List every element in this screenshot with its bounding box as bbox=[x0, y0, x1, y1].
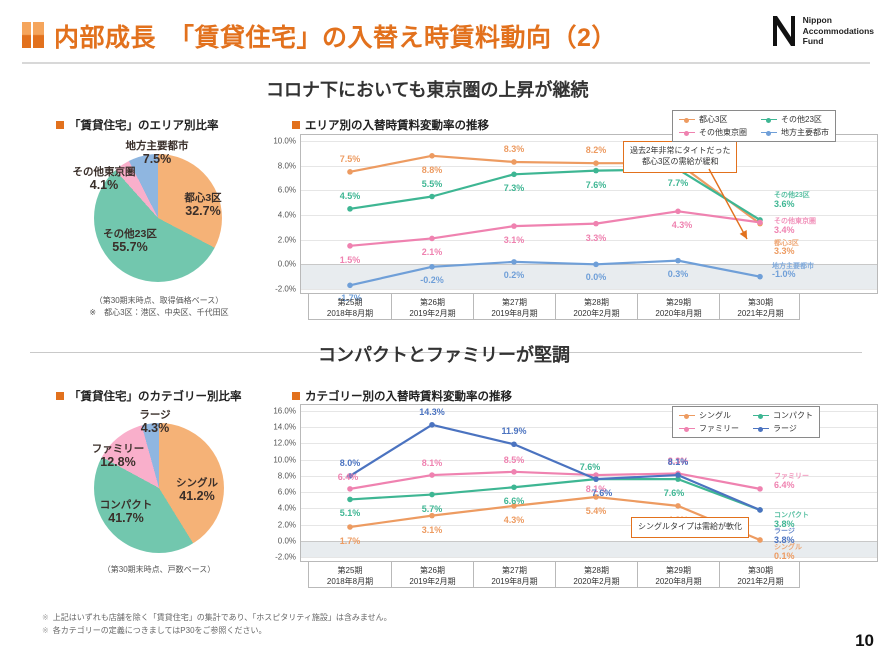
footnote-1: ※各カテゴリーの定義につきましてはP30をご参照ください。 bbox=[42, 625, 742, 638]
legend-label: ファミリー bbox=[699, 423, 739, 434]
logo-line-2: Accommodations bbox=[803, 26, 874, 36]
x-axis-date: 2019年8月期 bbox=[474, 309, 555, 320]
data-point bbox=[347, 486, 353, 492]
data-point bbox=[675, 472, 681, 478]
data-point bbox=[511, 484, 517, 490]
category-pie-label-3: ラージ4.3% bbox=[120, 409, 190, 435]
data-label: 0.0% bbox=[586, 272, 607, 282]
data-point bbox=[429, 236, 435, 242]
end-label-value: 3.3% bbox=[774, 246, 795, 256]
x-axis-period: 第25期 bbox=[309, 566, 391, 577]
data-point bbox=[347, 497, 353, 503]
x-axis-band-1: 第26期2019年2月期 bbox=[391, 562, 473, 588]
x-axis-band-3: 第28期2020年2月期 bbox=[555, 294, 637, 320]
category-chart-heading: カテゴリー別の入替時賃料変動率の推移 bbox=[292, 388, 512, 404]
header-accent-mark bbox=[22, 22, 44, 48]
slide-header: 内部成長 「賃貸住宅」の入替え時賃料動向（2） Nippon Accommoda… bbox=[0, 0, 892, 62]
legend-line-icon bbox=[679, 415, 695, 416]
x-axis-band-5: 第30期2021年2月期 bbox=[719, 562, 801, 588]
data-label: 8.3% bbox=[504, 144, 525, 154]
area-pie-chart: 都心3区32.7% その他23区55.7% その他東京圏4.1% 地方主要都市7… bbox=[82, 148, 234, 290]
x-axis-period: 第30期 bbox=[720, 298, 801, 309]
end-label-name: ファミリー bbox=[774, 473, 809, 481]
y-axis-tick: 8.0% bbox=[278, 471, 296, 480]
data-label: 7.6% bbox=[586, 180, 607, 190]
data-point bbox=[429, 422, 435, 428]
legend-line-icon bbox=[753, 428, 769, 429]
series-end-label: 都心3区3.3% bbox=[774, 240, 799, 258]
series-end-label: その他23区3.6% bbox=[774, 192, 810, 210]
footnote-0: ※上記はいずれも店舗を除く「賃貸住宅」の集計であり、「ホスピタリティ施設」は含み… bbox=[42, 612, 742, 625]
legend-label: 都心3区 bbox=[699, 114, 727, 125]
legend-item-1[interactable]: その他23区 bbox=[761, 114, 829, 125]
data-label: 8.1% bbox=[668, 457, 689, 467]
data-label: 7.6% bbox=[580, 462, 601, 472]
bullet-square-icon bbox=[56, 392, 64, 400]
area-pie-heading: 「賃貸住宅」のエリア別比率 bbox=[56, 117, 219, 133]
legend-label: その他23区 bbox=[781, 114, 822, 125]
x-axis-period: 第27期 bbox=[474, 298, 555, 309]
y-axis-tick: 8.0% bbox=[278, 161, 296, 170]
y-axis-tick: 0.0% bbox=[278, 536, 296, 545]
y-axis-tick: 12.0% bbox=[273, 439, 296, 448]
legend-line-icon bbox=[761, 119, 777, 120]
data-label: 5.5% bbox=[422, 179, 443, 189]
data-point bbox=[675, 258, 681, 264]
logo-text: Nippon Accommodations Fund bbox=[803, 15, 874, 46]
data-label: 8.2% bbox=[586, 145, 607, 155]
y-axis-tick: 4.0% bbox=[278, 211, 296, 220]
data-label: 8.0% bbox=[340, 458, 361, 468]
end-label-value: -1.0% bbox=[772, 269, 796, 279]
y-axis-tick: -2.0% bbox=[275, 285, 296, 294]
data-label: 7.3% bbox=[504, 183, 525, 193]
y-axis-tick: 6.0% bbox=[278, 488, 296, 497]
data-point bbox=[347, 206, 353, 212]
legend-item-0[interactable]: 都心3区 bbox=[679, 114, 747, 125]
data-label: 1.7% bbox=[340, 536, 361, 546]
y-axis-tick: 0.0% bbox=[278, 260, 296, 269]
legend-item-3[interactable]: ラージ bbox=[753, 423, 813, 434]
data-point bbox=[593, 160, 599, 166]
legend-item-1[interactable]: コンパクト bbox=[753, 410, 813, 421]
end-label-value: 3.4% bbox=[774, 225, 795, 235]
x-axis-date: 2021年2月期 bbox=[720, 577, 801, 588]
callout-line: 都心3区の需給が緩和 bbox=[630, 157, 730, 168]
logo-line-3: Fund bbox=[803, 36, 874, 46]
legend-line-icon bbox=[679, 119, 695, 120]
end-label-name: コンパクト bbox=[774, 512, 809, 520]
data-point bbox=[511, 469, 517, 475]
footnotes: ※上記はいずれも店舗を除く「賃貸住宅」の集計であり、「ホスピタリティ施設」は含み… bbox=[42, 612, 742, 638]
data-point bbox=[347, 169, 353, 175]
data-label: 5.7% bbox=[422, 504, 443, 514]
data-label: 7.6% bbox=[664, 488, 685, 498]
end-label-name: 地方主要都市 bbox=[772, 263, 814, 271]
area-legend: 都心3区その他23区その他東京圏地方主要都市 bbox=[672, 110, 836, 142]
category-legend: シングルコンパクトファミリーラージ bbox=[672, 406, 820, 438]
data-label: 8.5% bbox=[504, 455, 525, 465]
legend-item-0[interactable]: シングル bbox=[679, 410, 739, 421]
page-number: 10 bbox=[855, 631, 874, 651]
data-label: 11.9% bbox=[501, 426, 526, 436]
category-pie-label-1: コンパクト41.7% bbox=[86, 499, 166, 525]
x-axis-band-4: 第29期2020年8月期 bbox=[637, 562, 719, 588]
data-point bbox=[675, 503, 681, 509]
area-chart-heading: エリア別の入替時賃料変動率の推移 bbox=[292, 117, 489, 133]
data-point bbox=[429, 492, 435, 498]
data-point bbox=[593, 221, 599, 227]
data-label: -0.2% bbox=[420, 275, 444, 285]
x-axis-period: 第29期 bbox=[638, 298, 719, 309]
x-axis-date: 2020年8月期 bbox=[638, 309, 719, 320]
series-line-3 bbox=[350, 261, 760, 286]
legend-line-icon bbox=[753, 415, 769, 416]
end-label-value: 0.1% bbox=[774, 551, 795, 561]
area-pie-note-1: ※ 都心3区：港区、中央区、千代田区 bbox=[44, 307, 274, 318]
end-label-name: 都心3区 bbox=[774, 240, 799, 248]
data-point bbox=[757, 537, 763, 543]
area-plot-area: 10.0%8.0%6.0%4.0%2.0%0.0%-2.0%7.5%8.8%8.… bbox=[301, 135, 877, 293]
series-end-label: シングル0.1% bbox=[774, 544, 802, 562]
x-axis-date: 2018年8月期 bbox=[309, 577, 391, 588]
y-axis-tick: 6.0% bbox=[278, 186, 296, 195]
data-point bbox=[593, 168, 599, 174]
data-label: 14.3% bbox=[419, 407, 445, 417]
data-label: 0.2% bbox=[504, 270, 525, 280]
data-label: 8.1% bbox=[422, 458, 443, 468]
end-label-name: その他東京圏 bbox=[774, 218, 816, 226]
data-label: 3.3% bbox=[586, 233, 607, 243]
data-point bbox=[757, 220, 763, 226]
bullet-square-icon bbox=[292, 392, 300, 400]
end-label-name: ラージ bbox=[774, 528, 795, 536]
x-axis-date: 2018年8月期 bbox=[309, 309, 391, 320]
section-2-title: コンパクトとファミリーが堅調 bbox=[318, 341, 570, 367]
y-axis-tick: -2.0% bbox=[275, 553, 296, 562]
data-label: 6.4% bbox=[338, 472, 359, 482]
slide: 内部成長 「賃貸住宅」の入替え時賃料動向（2） Nippon Accommoda… bbox=[0, 0, 892, 659]
series-end-label: ラージ3.8% bbox=[774, 528, 795, 546]
data-label: 6.6% bbox=[504, 496, 525, 506]
legend-item-2[interactable]: ファミリー bbox=[679, 423, 739, 434]
x-axis-date: 2019年2月期 bbox=[392, 309, 473, 320]
data-label: 4.5% bbox=[340, 191, 361, 201]
data-label: 4.3% bbox=[672, 220, 693, 230]
y-axis-tick: 2.0% bbox=[278, 235, 296, 244]
category-pie-heading: 「賃貸住宅」のカテゴリー別比率 bbox=[56, 388, 242, 404]
y-axis-tick: 10.0% bbox=[273, 455, 296, 464]
data-point bbox=[511, 159, 517, 165]
area-line-chart: 10.0%8.0%6.0%4.0%2.0%0.0%-2.0%7.5%8.8%8.… bbox=[300, 134, 878, 294]
x-axis-period: 第30期 bbox=[720, 566, 801, 577]
data-point bbox=[429, 513, 435, 519]
end-label-value: 6.4% bbox=[774, 480, 795, 490]
data-point bbox=[347, 243, 353, 249]
y-axis-tick: 10.0% bbox=[273, 137, 296, 146]
series-line-2 bbox=[350, 211, 760, 246]
chart-callout: 過去2年非常にタイトだった都心3区の需給が緩和 bbox=[623, 141, 737, 173]
data-point bbox=[347, 524, 353, 530]
x-axis-period: 第29期 bbox=[638, 566, 719, 577]
area-pie-note-0: （第30期末時点、取得価格ベース） bbox=[44, 295, 274, 306]
callout-line: シングルタイプは需給が軟化 bbox=[638, 522, 742, 533]
x-axis-date: 2019年8月期 bbox=[474, 577, 555, 588]
header-divider bbox=[22, 62, 870, 64]
area-pie-label-1: その他23区55.7% bbox=[90, 228, 170, 254]
x-axis-period: 第27期 bbox=[474, 566, 555, 577]
series-end-label: 地方主要都市-1.0% bbox=[772, 263, 814, 281]
bullet-square-icon bbox=[56, 121, 64, 129]
x-axis-band-1: 第26期2019年2月期 bbox=[391, 294, 473, 320]
series-end-label: ファミリー6.4% bbox=[774, 473, 809, 491]
data-point bbox=[511, 441, 517, 447]
legend-item-3[interactable]: 地方主要都市 bbox=[761, 127, 829, 138]
legend-label: 地方主要都市 bbox=[781, 127, 829, 138]
callout-line: 過去2年非常にタイトだった bbox=[630, 146, 730, 157]
legend-line-icon bbox=[679, 428, 695, 429]
x-axis-date: 2020年2月期 bbox=[556, 309, 637, 320]
legend-label: その他東京圏 bbox=[699, 127, 747, 138]
data-label: 7.6% bbox=[592, 488, 613, 498]
end-label-value: 3.6% bbox=[774, 199, 795, 209]
data-point bbox=[593, 476, 599, 482]
legend-label: ラージ bbox=[773, 423, 797, 434]
data-label: 2.1% bbox=[422, 247, 443, 257]
category-pie-note-0: （第30期末時点、戸数ベース） bbox=[44, 564, 274, 575]
data-label: 7.7% bbox=[668, 178, 689, 188]
data-point bbox=[429, 472, 435, 478]
data-label: 1.5% bbox=[340, 255, 361, 265]
data-point bbox=[757, 274, 763, 280]
category-pie-label-2: ファミリー12.8% bbox=[78, 443, 158, 469]
data-label: 5.4% bbox=[586, 506, 607, 516]
company-logo: Nippon Accommodations Fund bbox=[770, 14, 874, 48]
data-point bbox=[511, 223, 517, 229]
category-pie-label-0: シングル41.2% bbox=[162, 477, 232, 503]
y-axis-tick: 16.0% bbox=[273, 407, 296, 416]
y-axis-tick: 14.0% bbox=[273, 423, 296, 432]
x-axis-date: 2020年8月期 bbox=[638, 577, 719, 588]
data-point bbox=[511, 172, 517, 178]
data-label: 5.1% bbox=[340, 508, 361, 518]
x-axis-date: 2020年2月期 bbox=[556, 577, 637, 588]
legend-label: コンパクト bbox=[773, 410, 813, 421]
logo-n-icon bbox=[770, 14, 798, 48]
data-point bbox=[675, 209, 681, 215]
legend-item-2[interactable]: その他東京圏 bbox=[679, 127, 747, 138]
data-point bbox=[429, 153, 435, 159]
end-label-name: シングル bbox=[774, 544, 802, 552]
x-axis-date: 2019年2月期 bbox=[392, 577, 473, 588]
series-end-label: コンパクト3.8% bbox=[774, 512, 809, 530]
area-pie-label-0: 都心3区32.7% bbox=[168, 192, 238, 218]
data-label: 7.5% bbox=[340, 154, 361, 164]
x-axis-period: 第28期 bbox=[556, 566, 637, 577]
section-1-title: コロナ下においても東京圏の上昇が継続 bbox=[266, 76, 589, 102]
x-axis-period: 第26期 bbox=[392, 298, 473, 309]
data-point bbox=[347, 283, 353, 289]
data-label: 8.8% bbox=[422, 165, 443, 175]
series-end-label: その他東京圏3.4% bbox=[774, 218, 816, 236]
x-axis-band-2: 第27期2019年8月期 bbox=[473, 294, 555, 320]
x-axis-band-5: 第30期2021年2月期 bbox=[719, 294, 801, 320]
x-axis-period: 第25期 bbox=[309, 298, 391, 309]
x-axis-band-4: 第29期2020年8月期 bbox=[637, 294, 719, 320]
data-point bbox=[429, 194, 435, 200]
area-pie-label-3: 地方主要都市7.5% bbox=[112, 140, 202, 166]
legend-line-icon bbox=[761, 132, 777, 133]
logo-line-1: Nippon bbox=[803, 15, 874, 25]
category-xaxis: 第25期2018年8月期第26期2019年2月期第27期2019年8月期第28期… bbox=[308, 562, 800, 588]
x-axis-period: 第26期 bbox=[392, 566, 473, 577]
category-pie-chart: シングル41.2% コンパクト41.7% ファミリー12.8% ラージ4.3% bbox=[82, 415, 234, 561]
data-point bbox=[593, 262, 599, 268]
data-label: 3.1% bbox=[422, 525, 443, 535]
data-label: 0.3% bbox=[668, 269, 689, 279]
data-point bbox=[757, 486, 763, 492]
x-axis-band-3: 第28期2020年2月期 bbox=[555, 562, 637, 588]
legend-line-icon bbox=[679, 132, 695, 133]
x-axis-date: 2021年2月期 bbox=[720, 309, 801, 320]
x-axis-band-0: 第25期2018年8月期 bbox=[309, 294, 391, 320]
data-label: 3.1% bbox=[504, 235, 525, 245]
area-xaxis: 第25期2018年8月期第26期2019年2月期第27期2019年8月期第28期… bbox=[308, 294, 800, 320]
page-title: 内部成長 「賃貸住宅」の入替え時賃料動向（2） bbox=[54, 18, 617, 54]
x-axis-band-0: 第25期2018年8月期 bbox=[309, 562, 391, 588]
legend-label: シングル bbox=[699, 410, 731, 421]
data-point bbox=[757, 507, 763, 513]
end-label-name: その他23区 bbox=[774, 192, 810, 200]
x-axis-band-2: 第27期2019年8月期 bbox=[473, 562, 555, 588]
data-point bbox=[429, 264, 435, 270]
y-axis-tick: 4.0% bbox=[278, 504, 296, 513]
x-axis-period: 第28期 bbox=[556, 298, 637, 309]
area-pie-label-2: その他東京圏4.1% bbox=[64, 166, 144, 192]
data-point bbox=[511, 259, 517, 265]
y-axis-tick: 2.0% bbox=[278, 520, 296, 529]
bullet-square-icon bbox=[292, 121, 300, 129]
chart-callout: シングルタイプは需給が軟化 bbox=[631, 517, 749, 538]
data-label: 4.3% bbox=[504, 515, 525, 525]
